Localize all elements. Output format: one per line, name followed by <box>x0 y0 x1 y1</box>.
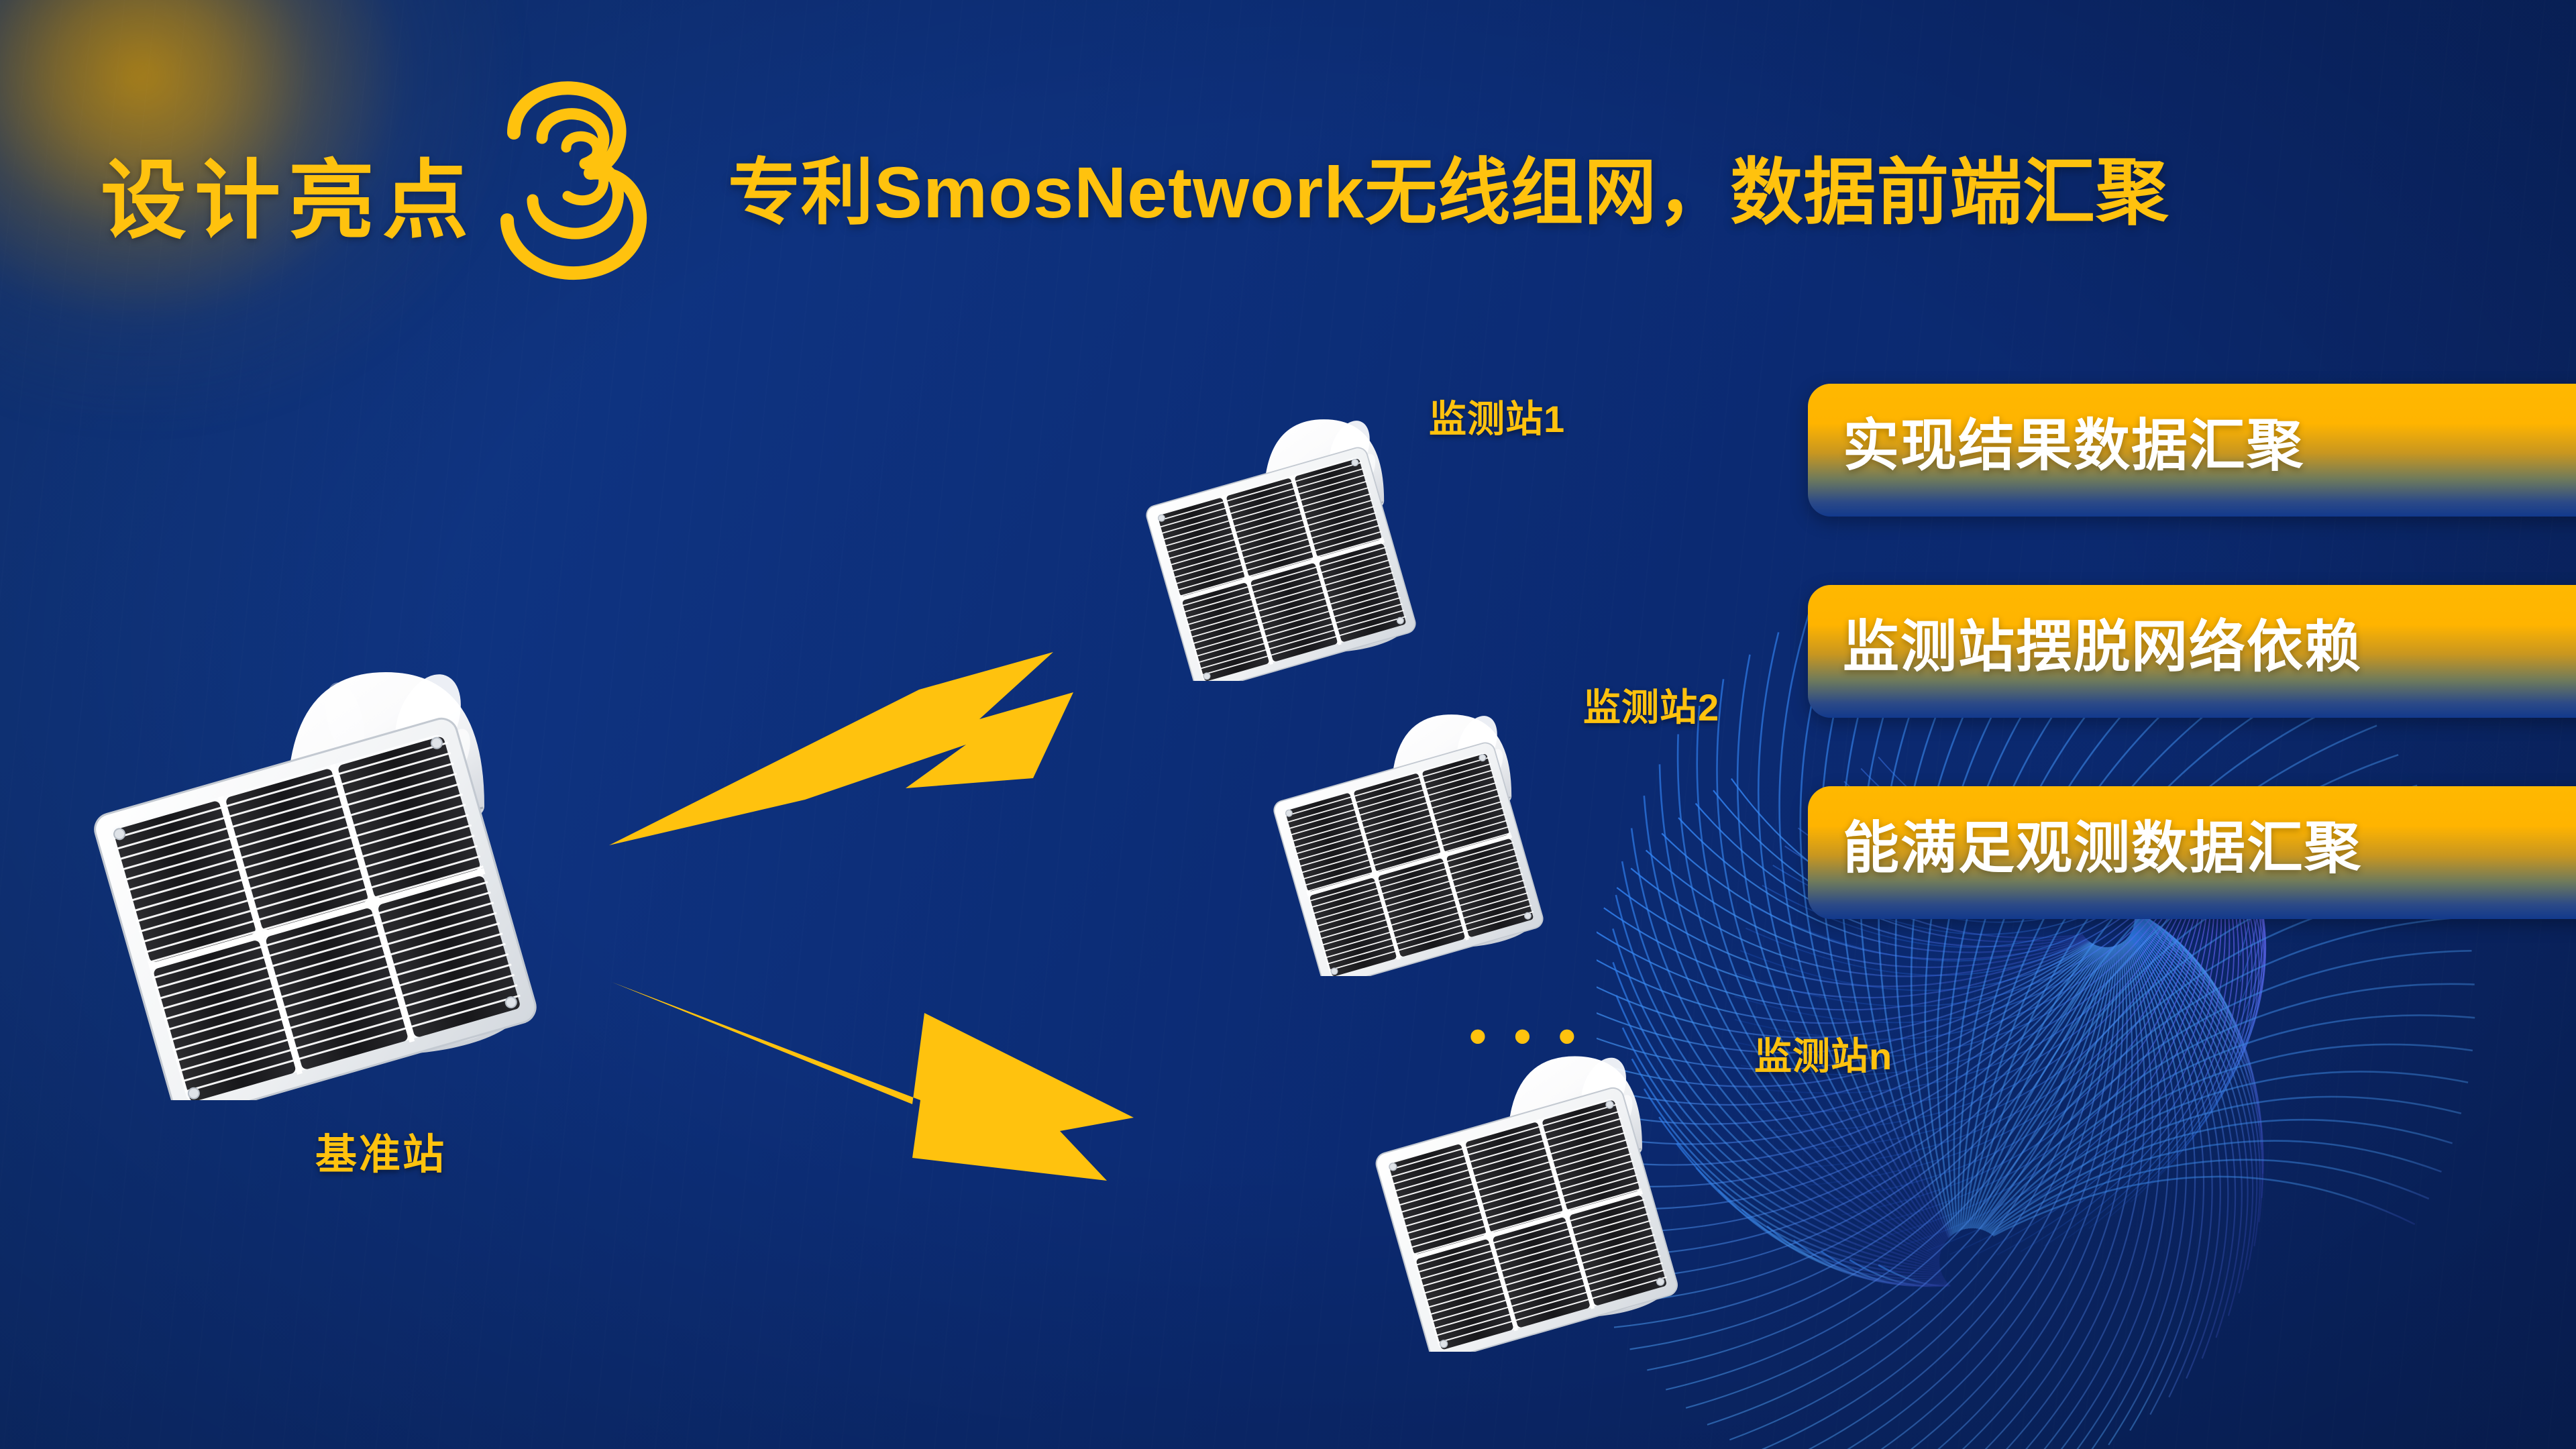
callout-text-2: 监测站摆脱网络依赖 <box>1843 619 2362 675</box>
design-highlight-block: 设计亮点 <box>101 121 674 293</box>
callout-text-3: 能满足观测数据汇聚 <box>1843 820 2362 876</box>
lightning-bolt-icon-to-station-n <box>597 959 1134 1201</box>
gnss-receiver-base-station: SOUTH 南方测绘 创 新 空 地 理 信 息 价 值 <box>74 530 624 1100</box>
highlight-number-three-icon <box>472 68 674 293</box>
header: 设计亮点 专利SmosNetwork无线组网，数据前端汇聚 <box>0 0 2576 315</box>
monitor-station-1-label: 监测站1 <box>1429 389 1565 443</box>
gnss-receiver-monitor-station-2: SOUTH 南方测绘 创 新 空 地 理 信 息 价 值 <box>1261 627 1597 976</box>
lightning-bolt-icon-to-station-1 <box>604 644 1073 885</box>
design-highlight-label: 设计亮点 <box>101 158 476 244</box>
base-station-label: 基准站 <box>315 1120 446 1181</box>
page-title: 专利SmosNetwork无线组网，数据前端汇聚 <box>728 153 2169 233</box>
callout-box-2[interactable]: 监测站摆脱网络依赖 <box>1808 585 2576 718</box>
callout-box-3[interactable]: 能满足观测数据汇聚 <box>1808 786 2576 919</box>
monitor-station-n-label: 监测站n <box>1754 1026 1892 1081</box>
callout-box-1[interactable]: 实现结果数据汇聚 <box>1808 384 2576 517</box>
ellipsis-dots: • • • <box>1469 1026 1582 1046</box>
callout-text-1: 实现结果数据汇聚 <box>1843 417 2304 474</box>
monitor-station-2-label: 监测站2 <box>1583 678 1719 732</box>
